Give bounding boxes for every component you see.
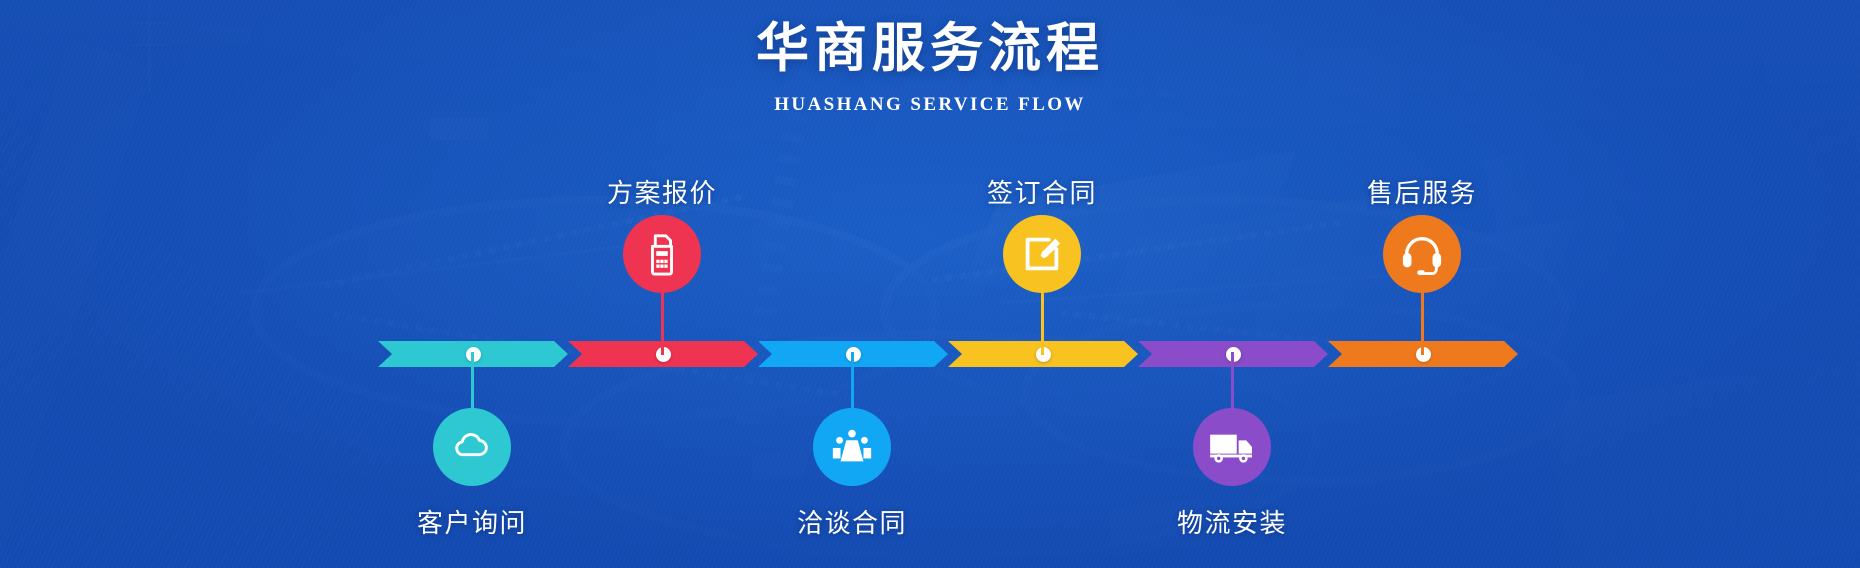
flow-icon-bubble-1[interactable]: [433, 408, 511, 486]
cloud-chat-icon: [449, 424, 495, 470]
flow-icon-bubble-6[interactable]: [1383, 215, 1461, 293]
calculator-quote-icon: [641, 232, 683, 276]
flow-stem-2: [661, 287, 664, 355]
flow-step-label-5: 物流安装: [1102, 503, 1362, 540]
flow-stem-4: [1041, 287, 1044, 355]
delivery-truck-icon: [1208, 428, 1256, 466]
flow-step-label-6: 售后服务: [1292, 173, 1552, 210]
flow-icon-bubble-5[interactable]: [1193, 408, 1271, 486]
meeting-table-icon: [829, 425, 875, 469]
flow-icon-bubble-2[interactable]: [623, 215, 701, 293]
flow-icon-bubble-3[interactable]: [813, 408, 891, 486]
service-flow-timeline: 客户询问 方案报价: [0, 0, 1860, 568]
flow-step-label-2: 方案报价: [532, 173, 792, 210]
flow-icon-bubble-4[interactable]: [1003, 215, 1081, 293]
service-flow-banner: 华商服务流程 HUASHANG SERVICE FLOW 客户询问: [0, 0, 1860, 568]
pencil-sign-icon: [1019, 231, 1065, 277]
flow-step-label-1: 客户询问: [342, 503, 602, 540]
headset-support-icon: [1399, 232, 1445, 276]
flow-step-label-3: 洽谈合同: [722, 503, 982, 540]
flow-stem-6: [1421, 287, 1424, 355]
flow-step-label-4: 签订合同: [912, 173, 1172, 210]
